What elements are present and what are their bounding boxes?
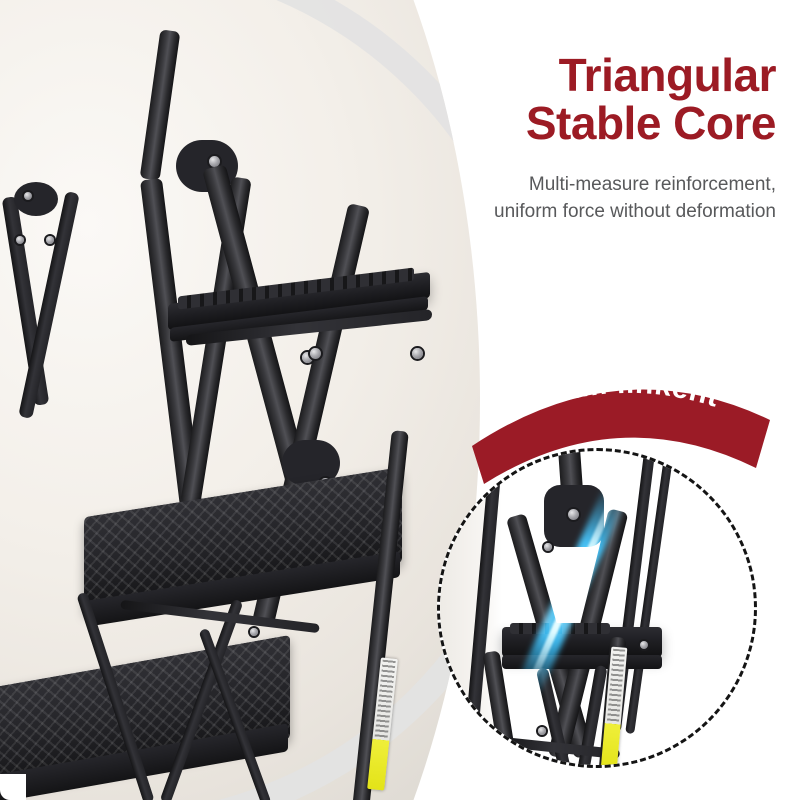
ribbon-label: Beam linkent — [518, 367, 723, 419]
bolt-icon — [250, 628, 258, 636]
detail-inset-content — [440, 451, 754, 765]
detail-inset-circle — [437, 448, 757, 768]
bolt-icon — [412, 348, 423, 359]
hinge-joint — [14, 182, 58, 216]
bolt-icon — [24, 192, 32, 200]
bolt-icon — [568, 509, 579, 520]
page-title: Triangular Stable Core — [526, 52, 776, 148]
bolt-icon — [46, 236, 54, 244]
product-feature-banner: Triangular Stable Core Multi-measure rei… — [0, 0, 800, 800]
photo-corner-mask — [0, 774, 26, 800]
bolt-icon — [640, 641, 648, 649]
bolt-icon — [310, 348, 321, 359]
ribbon-label-text: Beam linkent — [518, 367, 723, 419]
bolt-icon — [544, 543, 552, 551]
product-photo — [0, 0, 492, 800]
page-subtitle: Multi-measure reinforcement, uniform for… — [494, 172, 776, 226]
bolt-icon — [538, 727, 546, 735]
bolt-icon — [16, 236, 24, 244]
